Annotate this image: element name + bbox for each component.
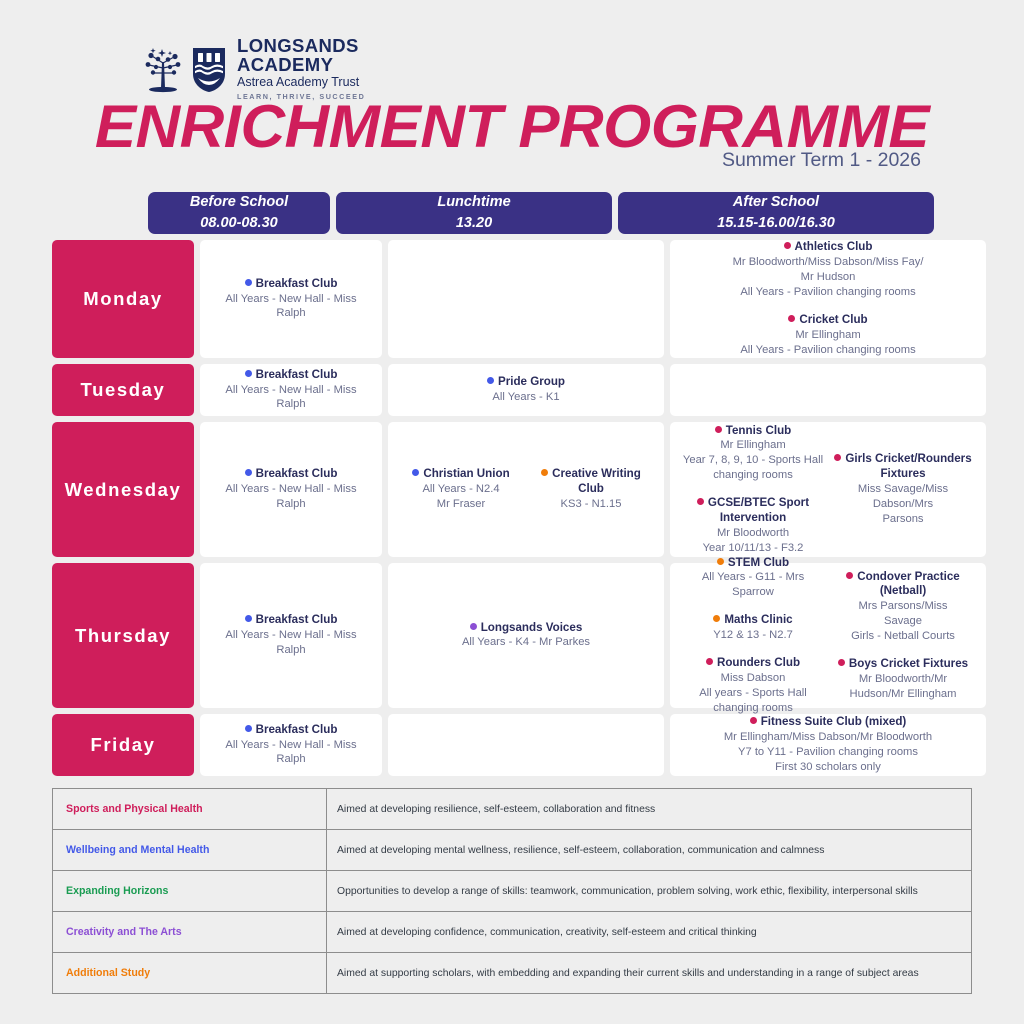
category-dot-icon — [717, 558, 724, 565]
club-detail-line: Parsons — [830, 512, 976, 527]
club-entry: GCSE/BTEC Sport InterventionMr Bloodwort… — [678, 494, 828, 557]
club-detail-line: Mr Bloodworth/Miss Dabson/Miss Fay/ — [733, 255, 924, 270]
legend-category-description: Aimed at supporting scholars, with embed… — [327, 953, 971, 993]
timetable-row: MondayBreakfast ClubAll Years - New Hall… — [0, 240, 1024, 358]
club-detail-line: Mr Bloodworth/Mr — [830, 672, 976, 687]
category-dot-icon — [470, 623, 477, 630]
cell-content: Athletics ClubMr Bloodworth/Miss Dabson/… — [731, 238, 926, 359]
club-detail-line: Miss Savage/Miss — [830, 482, 976, 497]
club-entry: Creative Writing ClubKS3 - N1.15 — [526, 465, 656, 514]
club-title: Breakfast Club — [210, 368, 372, 383]
club-detail-line: All Years - New Hall - Miss Ralph — [210, 292, 372, 322]
club-detail-line: Y12 & 13 - N2.7 — [680, 628, 826, 643]
club-detail-line: Mr Hudson — [733, 270, 924, 285]
club-title: Creative Writing Club — [528, 467, 654, 497]
club-detail-line: KS3 - N1.15 — [528, 497, 654, 512]
club-detail-line: Girls - Netball Courts — [830, 629, 976, 644]
club-title: Cricket Club — [733, 313, 924, 328]
legend-category-description: Aimed at developing confidence, communic… — [327, 912, 971, 952]
club-detail-line: All Years - New Hall - Miss Ralph — [210, 383, 372, 413]
column-header-before-school: Before School08.00-08.30 — [148, 192, 330, 234]
club-detail-line: All years - Sports Hall — [680, 686, 826, 701]
club-entry: Fitness Suite Club (mixed)Mr Ellingham/M… — [722, 713, 934, 777]
club-detail-line: Year 7, 8, 9, 10 - Sports Hall — [680, 453, 826, 468]
legend-category-name: Sports and Physical Health — [53, 789, 327, 829]
club-entry: Condover Practice (Netball)Mrs Parsons/M… — [828, 568, 978, 646]
club-detail-line: Mr Fraser — [398, 497, 524, 512]
category-dot-icon — [245, 370, 252, 377]
legend-category-description: Aimed at developing mental wellness, res… — [327, 830, 971, 870]
cell-before-school: Breakfast ClubAll Years - New Hall - Mis… — [200, 240, 382, 358]
club-entry: Athletics ClubMr Bloodworth/Miss Dabson/… — [731, 238, 926, 302]
cell-content: Breakfast ClubAll Years - New Hall - Mis… — [208, 465, 374, 514]
category-dot-icon — [750, 717, 757, 724]
cell-content: Breakfast ClubAll Years - New Hall - Mis… — [208, 611, 374, 660]
club-entry: STEM ClubAll Years - G11 - Mrs Sparrow — [678, 554, 828, 603]
legend-category-name: Expanding Horizons — [53, 871, 327, 911]
club-detail-line: changing rooms — [680, 468, 826, 483]
legend-row: Wellbeing and Mental HealthAimed at deve… — [53, 830, 971, 871]
club-detail-line: Mrs Parsons/Miss — [830, 599, 976, 614]
row-left-margin — [0, 714, 52, 776]
timetable-row: TuesdayBreakfast ClubAll Years - New Hal… — [0, 364, 1024, 416]
club-detail-line: All Years - K4 - Mr Parkes — [462, 635, 590, 650]
legend-row: Expanding HorizonsOpportunities to devel… — [53, 871, 971, 912]
category-dot-icon — [715, 426, 722, 433]
club-entry: Pride GroupAll Years - K1 — [485, 373, 567, 407]
timetable-header-row: Before School08.00-08.30Lunchtime13.20Af… — [0, 192, 1024, 234]
cell-content-split: Tennis ClubMr EllinghamYear 7, 8, 9, 10 … — [678, 428, 978, 551]
club-detail-line: All Years - N2.4 — [398, 482, 524, 497]
club-entry: Breakfast ClubAll Years - New Hall - Mis… — [208, 611, 374, 660]
club-title: Christian Union — [398, 467, 524, 482]
club-detail-line: Hudson/Mr Ellingham — [830, 687, 976, 702]
column-header-time: 08.00-08.30 — [200, 213, 277, 234]
club-title: Rounders Club — [680, 656, 826, 671]
club-detail-line: Mr Ellingham — [680, 438, 826, 453]
cell-content-split: Christian UnionAll Years - N2.4Mr Fraser… — [396, 428, 656, 551]
category-dot-icon — [245, 469, 252, 476]
cell-content: Pride GroupAll Years - K1 — [485, 373, 567, 407]
day-label-wednesday: Wednesday — [52, 422, 194, 557]
club-title: Maths Clinic — [680, 613, 826, 628]
club-title: Breakfast Club — [210, 277, 372, 292]
club-detail-line: All Years - New Hall - Miss Ralph — [210, 738, 372, 768]
club-entry: Longsands VoicesAll Years - K4 - Mr Park… — [460, 619, 592, 653]
row-left-margin — [0, 240, 52, 358]
category-dot-icon — [245, 615, 252, 622]
category-dot-icon — [846, 572, 853, 579]
tree-icon — [140, 46, 186, 94]
cell-column-left: Tennis ClubMr EllinghamYear 7, 8, 9, 10 … — [678, 422, 828, 558]
column-header-label: After School — [733, 192, 819, 213]
club-title: Athletics Club — [733, 240, 924, 255]
legend-category-name: Creativity and The Arts — [53, 912, 327, 952]
cell-after-school: Fitness Suite Club (mixed)Mr Ellingham/M… — [670, 714, 986, 776]
timetable-row: WednesdayBreakfast ClubAll Years - New H… — [0, 422, 1024, 557]
timetable-row: FridayBreakfast ClubAll Years - New Hall… — [0, 714, 1024, 776]
club-detail-line: Savage — [830, 614, 976, 629]
cell-lunchtime: Longsands VoicesAll Years - K4 - Mr Park… — [388, 563, 664, 708]
day-label-monday: Monday — [52, 240, 194, 358]
legend-category-description: Aimed at developing resilience, self-est… — [327, 789, 971, 829]
timetable: Before School08.00-08.30Lunchtime13.20Af… — [0, 192, 1024, 782]
logo-line-3: Astrea Academy Trust — [237, 74, 365, 91]
legend-row: Additional StudyAimed at supporting scho… — [53, 953, 971, 994]
column-header-label: Before School — [190, 192, 288, 213]
legend-row: Creativity and The ArtsAimed at developi… — [53, 912, 971, 953]
club-title: Tennis Club — [680, 424, 826, 439]
day-label-thursday: Thursday — [52, 563, 194, 708]
category-dot-icon — [788, 315, 795, 322]
cell-content: Fitness Suite Club (mixed)Mr Ellingham/M… — [722, 713, 934, 777]
row-left-margin — [0, 422, 52, 557]
column-header-time: 15.15-16.00/16.30 — [717, 213, 835, 234]
term-subtitle: Summer Term 1 - 2026 — [722, 149, 921, 172]
legend-category-name: Wellbeing and Mental Health — [53, 830, 327, 870]
category-dot-icon — [245, 725, 252, 732]
cell-lunchtime: Christian UnionAll Years - N2.4Mr Fraser… — [388, 422, 664, 557]
club-entry: Boys Cricket FixturesMr Bloodworth/MrHud… — [828, 655, 978, 704]
club-entry: Maths ClinicY12 & 13 - N2.7 — [678, 611, 828, 645]
club-title: Pride Group — [487, 375, 565, 390]
category-dot-icon — [541, 469, 548, 476]
cell-after-school: Tennis ClubMr EllinghamYear 7, 8, 9, 10 … — [670, 422, 986, 557]
club-title: Girls Cricket/Rounders Fixtures — [830, 452, 976, 482]
club-entry: Breakfast ClubAll Years - New Hall - Mis… — [208, 465, 374, 514]
cell-content: Longsands VoicesAll Years - K4 - Mr Park… — [460, 619, 592, 653]
cell-content: Breakfast ClubAll Years - New Hall - Mis… — [208, 275, 374, 324]
club-title: Condover Practice (Netball) — [830, 570, 976, 600]
club-entry: Cricket ClubMr EllinghamAll Years - Pavi… — [731, 311, 926, 360]
category-dot-icon — [838, 659, 845, 666]
club-title: Breakfast Club — [210, 613, 372, 628]
category-dot-icon — [245, 279, 252, 286]
cell-column-right: Girls Cricket/Rounders FixturesMiss Sava… — [828, 450, 978, 528]
cell-column-right: Condover Practice (Netball)Mrs Parsons/M… — [828, 568, 978, 704]
club-title: Boys Cricket Fixtures — [830, 657, 976, 672]
cell-content-split: STEM ClubAll Years - G11 - Mrs SparrowMa… — [678, 569, 978, 702]
club-detail-line: All Years - K1 — [487, 390, 565, 405]
cell-column-left: STEM ClubAll Years - G11 - Mrs SparrowMa… — [678, 554, 828, 718]
logo-line-1: LONGSANDS — [237, 36, 365, 55]
enrichment-programme-poster: LONGSANDS ACADEMY Astrea Academy Trust L… — [0, 0, 1024, 1024]
cell-before-school: Breakfast ClubAll Years - New Hall - Mis… — [200, 714, 382, 776]
category-dot-icon — [697, 498, 704, 505]
club-title: STEM Club — [680, 556, 826, 571]
club-detail-line: Miss Dabson — [680, 671, 826, 686]
legend-category-description: Opportunities to develop a range of skil… — [327, 871, 971, 911]
cell-content: Breakfast ClubAll Years - New Hall - Mis… — [208, 366, 374, 415]
row-left-margin — [0, 364, 52, 416]
legend-category-name: Additional Study — [53, 953, 327, 993]
cell-before-school: Breakfast ClubAll Years - New Hall - Mis… — [200, 364, 382, 416]
poster-header: LONGSANDS ACADEMY Astrea Academy Trust L… — [0, 0, 1024, 185]
club-title: Fitness Suite Club (mixed) — [724, 715, 932, 730]
category-dot-icon — [784, 242, 791, 249]
column-header-lunchtime: Lunchtime13.20 — [336, 192, 612, 234]
category-dot-icon — [834, 454, 841, 461]
club-entry: Girls Cricket/Rounders FixturesMiss Sava… — [828, 450, 978, 528]
cell-lunchtime — [388, 714, 664, 776]
club-detail-line: Y7 to Y11 - Pavilion changing rooms — [724, 745, 932, 760]
cell-lunchtime — [388, 240, 664, 358]
column-header-time: 13.20 — [456, 213, 492, 234]
cell-after-school: Athletics ClubMr Bloodworth/Miss Dabson/… — [670, 240, 986, 358]
cell-lunchtime: Pride GroupAll Years - K1 — [388, 364, 664, 416]
club-detail-line: Mr Bloodworth — [680, 526, 826, 541]
timetable-row: ThursdayBreakfast ClubAll Years - New Ha… — [0, 563, 1024, 708]
club-entry: Breakfast ClubAll Years - New Hall - Mis… — [208, 366, 374, 415]
club-detail-line: First 30 scholars only — [724, 760, 932, 775]
category-dot-icon — [487, 377, 494, 384]
row-left-margin — [0, 563, 52, 708]
club-detail-line: All Years - Pavilion changing rooms — [733, 285, 924, 300]
club-entry: Tennis ClubMr EllinghamYear 7, 8, 9, 10 … — [678, 422, 828, 486]
cell-after-school — [670, 364, 986, 416]
column-header-after-school: After School15.15-16.00/16.30 — [618, 192, 934, 234]
legend-row: Sports and Physical HealthAimed at devel… — [53, 789, 971, 830]
club-detail-line: Dabson/Mrs — [830, 497, 976, 512]
cell-column-right: Creative Writing ClubKS3 - N1.15 — [526, 465, 656, 514]
club-entry: Christian UnionAll Years - N2.4Mr Fraser — [396, 465, 526, 514]
club-entry: Breakfast ClubAll Years - New Hall - Mis… — [208, 721, 374, 770]
club-title: Longsands Voices — [462, 621, 590, 636]
club-detail-line: All Years - Pavilion changing rooms — [733, 343, 924, 358]
day-label-friday: Friday — [52, 714, 194, 776]
shield-crest-icon — [192, 47, 226, 93]
club-title: Breakfast Club — [210, 723, 372, 738]
club-detail-line: All Years - New Hall - Miss Ralph — [210, 482, 372, 512]
cell-content: Breakfast ClubAll Years - New Hall - Mis… — [208, 721, 374, 770]
club-entry: Breakfast ClubAll Years - New Hall - Mis… — [208, 275, 374, 324]
column-header-label: Lunchtime — [437, 192, 510, 213]
category-legend: Sports and Physical HealthAimed at devel… — [52, 788, 972, 994]
club-title: Breakfast Club — [210, 467, 372, 482]
cell-before-school: Breakfast ClubAll Years - New Hall - Mis… — [200, 563, 382, 708]
club-detail-line: All Years - New Hall - Miss Ralph — [210, 628, 372, 658]
category-dot-icon — [412, 469, 419, 476]
category-dot-icon — [713, 615, 720, 622]
cell-after-school: STEM ClubAll Years - G11 - Mrs SparrowMa… — [670, 563, 986, 708]
club-detail-line: All Years - G11 - Mrs Sparrow — [680, 570, 826, 600]
day-label-tuesday: Tuesday — [52, 364, 194, 416]
cell-column-left: Christian UnionAll Years - N2.4Mr Fraser — [396, 465, 526, 514]
cell-before-school: Breakfast ClubAll Years - New Hall - Mis… — [200, 422, 382, 557]
header-corner-spacer — [0, 192, 148, 234]
category-dot-icon — [706, 658, 713, 665]
club-entry: Rounders ClubMiss DabsonAll years - Spor… — [678, 654, 828, 718]
club-detail-line: Mr Ellingham/Miss Dabson/Mr Bloodworth — [724, 730, 932, 745]
logo-line-2: ACADEMY — [237, 55, 365, 74]
club-detail-line: Mr Ellingham — [733, 328, 924, 343]
club-title: GCSE/BTEC Sport Intervention — [680, 496, 826, 526]
